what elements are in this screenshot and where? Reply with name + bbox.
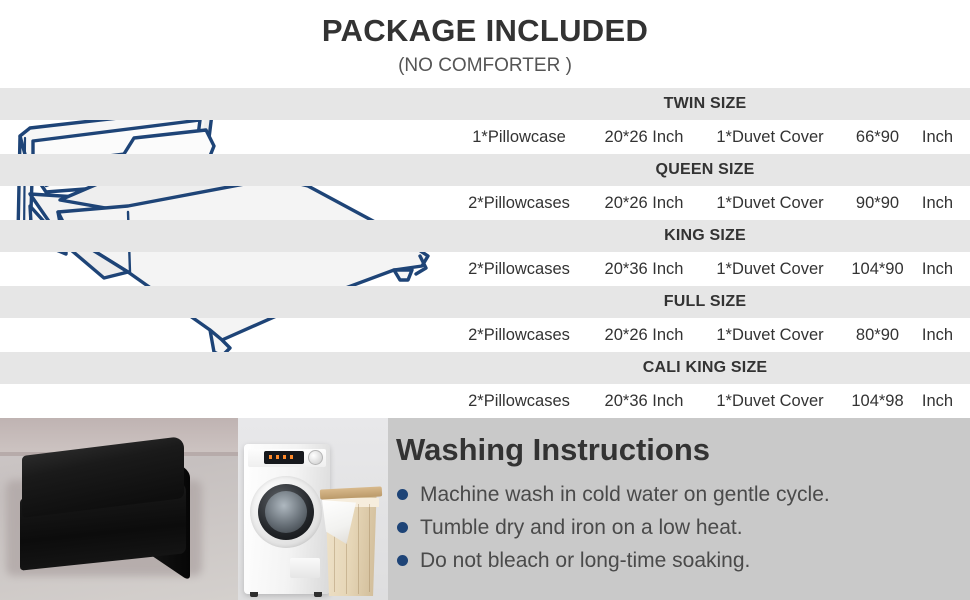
list-item-label: Machine wash in cold water on gentle cyc… (420, 483, 830, 506)
duvet-size: 80*90 (840, 326, 915, 345)
table-row: 2*Pillowcases 20*26 Inch 1*Duvet Cover 9… (0, 186, 970, 220)
washing-machine-detergent-tray (290, 558, 320, 578)
size-label: QUEEN SIZE (450, 154, 960, 186)
duvet-qty: 1*Duvet Cover (700, 260, 840, 279)
bullet-icon (397, 555, 408, 566)
size-label: CALI KING SIZE (450, 352, 960, 384)
page-title: PACKAGE INCLUDED (0, 13, 970, 49)
duvet-qty: 1*Duvet Cover (700, 128, 840, 147)
table-row: 2*Pillowcases 20*36 Inch 1*Duvet Cover 1… (0, 252, 970, 286)
duvet-qty: 1*Duvet Cover (700, 326, 840, 345)
list-item-label: Do not bleach or long-time soaking. (420, 549, 750, 572)
duvet-qty: 1*Duvet Cover (700, 194, 840, 213)
duvet-unit: Inch (915, 128, 960, 147)
table-row-header: CALI KING SIZE (0, 352, 970, 384)
pillow-qty: 2*Pillowcases (450, 194, 588, 213)
page-subtitle: (NO COMFORTER ) (0, 55, 970, 77)
size-label: TWIN SIZE (450, 88, 960, 120)
duvet-size: 104*90 (840, 260, 915, 279)
size-label: FULL SIZE (450, 286, 960, 318)
package-included-infographic: PACKAGE INCLUDED (NO COMFORTER ) (0, 0, 970, 600)
list-item-label: Tumble dry and iron on a low heat. (420, 516, 743, 539)
duvet-unit: Inch (915, 392, 960, 411)
pillow-size: 20*26 Inch (588, 128, 700, 147)
washing-machine-foot (314, 592, 322, 597)
duvet-unit: Inch (915, 194, 960, 213)
table-row-header: KING SIZE (0, 220, 970, 252)
duvet-qty: 1*Duvet Cover (700, 392, 840, 411)
table-row: 2*Pillowcases 20*26 Inch 1*Duvet Cover 8… (0, 318, 970, 352)
list-item: Tumble dry and iron on a low heat. (396, 511, 970, 544)
table-row-header: FULL SIZE (0, 286, 970, 318)
pillow-qty: 2*Pillowcases (450, 326, 588, 345)
washing-machine-display (264, 451, 304, 464)
pillow-size: 20*26 Inch (588, 326, 700, 345)
duvet-size: 90*90 (840, 194, 915, 213)
duvet-unit: Inch (915, 326, 960, 345)
washing-instructions-section: Washing Instructions Machine wash in col… (396, 418, 970, 600)
washing-machine-dial-icon (308, 450, 323, 465)
washing-machine-photo (238, 418, 388, 600)
washing-instructions-title: Washing Instructions (396, 432, 710, 468)
pillow-qty: 2*Pillowcases (450, 260, 588, 279)
table-row-header: TWIN SIZE (0, 88, 970, 120)
list-item: Machine wash in cold water on gentle cyc… (396, 478, 970, 511)
duvet-size: 104*98 (840, 392, 915, 411)
duvet-size: 66*90 (840, 128, 915, 147)
header: PACKAGE INCLUDED (NO COMFORTER ) (0, 0, 970, 88)
washing-machine-foot (250, 592, 258, 597)
pillow-size: 20*36 Inch (588, 260, 700, 279)
duvet-unit: Inch (915, 260, 960, 279)
washing-machine-drum (265, 491, 307, 533)
washing-instructions-list: Machine wash in cold water on gentle cyc… (396, 478, 970, 577)
bullet-icon (397, 489, 408, 500)
pillow-size: 20*36 Inch (588, 392, 700, 411)
list-item: Do not bleach or long-time soaking. (396, 544, 970, 577)
table-row: 1*Pillowcase 20*26 Inch 1*Duvet Cover 66… (0, 120, 970, 154)
folded-bedding-photo (0, 418, 238, 600)
pillow-qty: 2*Pillowcases (450, 392, 588, 411)
bullet-icon (397, 522, 408, 533)
pillow-qty: 1*Pillowcase (450, 128, 588, 147)
pillow-size: 20*26 Inch (588, 194, 700, 213)
size-label: KING SIZE (450, 220, 960, 252)
table-row-header: QUEEN SIZE (0, 154, 970, 186)
bottom-band: Washing Instructions Machine wash in col… (0, 418, 970, 600)
table-row: 2*Pillowcases 20*36 Inch 1*Duvet Cover 1… (0, 384, 970, 418)
size-table: TWIN SIZE 1*Pillowcase 20*26 Inch 1*Duve… (0, 88, 970, 418)
